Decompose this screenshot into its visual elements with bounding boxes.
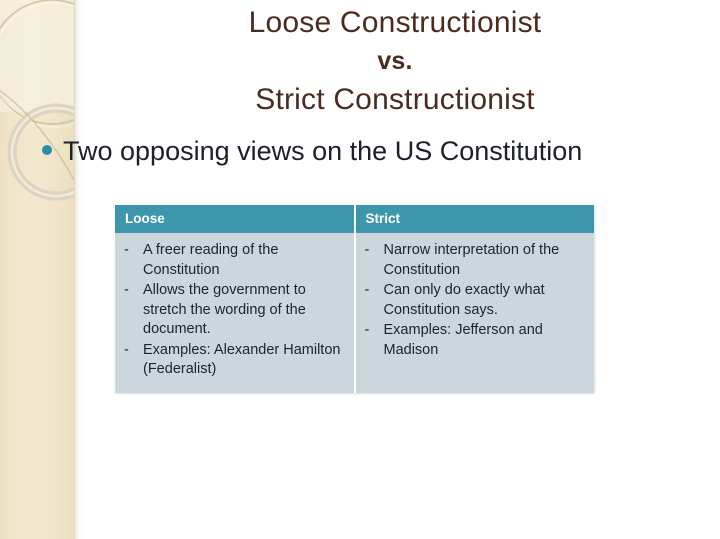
- subtitle-text: Two opposing views on the US Constitutio…: [63, 136, 582, 166]
- loose-list: - A freer reading of the Constitution - …: [124, 241, 346, 380]
- list-item: - Examples: Jefferson and Madison: [365, 321, 587, 360]
- title-line-2: Strict Constructionist: [95, 79, 695, 120]
- table-cell-strict: - Narrow interpretation of the Constitut…: [355, 233, 595, 393]
- bullet-dot-icon: [42, 145, 52, 155]
- list-item-text: Examples: Jefferson and Madison: [384, 321, 587, 360]
- list-item: - A freer reading of the Constitution: [124, 241, 346, 280]
- list-item: - Allows the government to stretch the w…: [124, 281, 346, 340]
- strict-list: - Narrow interpretation of the Constitut…: [365, 241, 587, 360]
- dash-marker: -: [124, 341, 143, 380]
- dash-marker: -: [124, 241, 143, 280]
- list-item-text: A freer reading of the Constitution: [143, 241, 346, 280]
- dash-marker: -: [365, 321, 384, 360]
- side-band-shadow: [74, 0, 83, 539]
- table-header-loose: Loose: [115, 205, 355, 233]
- list-item: - Narrow interpretation of the Constitut…: [365, 241, 587, 280]
- list-item-text: Can only do exactly what Constitution sa…: [384, 281, 587, 320]
- list-item: - Examples: Alexander Hamilton (Federali…: [124, 341, 346, 380]
- list-item-text: Examples: Alexander Hamilton (Federalist…: [143, 341, 346, 380]
- slide-canvas: Loose Constructionist vs. Strict Constru…: [0, 0, 720, 539]
- subtitle-bullet-row: Two opposing views on the US Constitutio…: [42, 136, 582, 166]
- title-line-1: Loose Constructionist: [95, 2, 695, 43]
- table-header-row: Loose Strict: [115, 205, 594, 233]
- title-line-vs: vs.: [95, 43, 695, 79]
- slide-title: Loose Constructionist vs. Strict Constru…: [95, 2, 695, 120]
- table-body-row: - A freer reading of the Constitution - …: [115, 233, 594, 393]
- comparison-table: Loose Strict - A freer reading of the Co…: [115, 205, 594, 393]
- dash-marker: -: [365, 281, 384, 320]
- list-item-text: Allows the government to stretch the wor…: [143, 281, 346, 340]
- dash-marker: -: [365, 241, 384, 280]
- table-header-strict: Strict: [355, 205, 595, 233]
- list-item: - Can only do exactly what Constitution …: [365, 281, 587, 320]
- list-item-text: Narrow interpretation of the Constitutio…: [384, 241, 587, 280]
- dash-marker: -: [124, 281, 143, 340]
- table-cell-loose: - A freer reading of the Constitution - …: [115, 233, 355, 393]
